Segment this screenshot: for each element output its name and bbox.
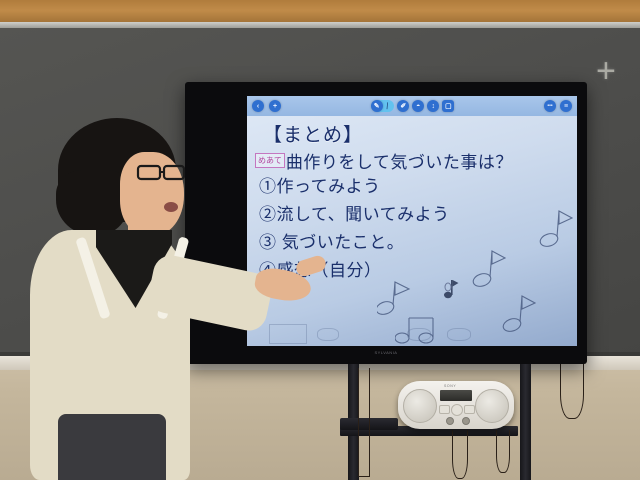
slide-bottom-strip	[247, 320, 577, 346]
trousers	[58, 414, 166, 480]
boombox-display	[440, 390, 472, 401]
boombox-play-button[interactable]	[451, 404, 463, 416]
objective-text: 曲作りをして気づいた事は？	[286, 148, 513, 173]
boombox-mic-jack[interactable]	[462, 417, 470, 425]
chalk-plus-mark: +	[596, 54, 616, 88]
pen-tool[interactable]: ✐	[397, 100, 409, 112]
hair-side	[56, 170, 128, 236]
eighth-note-doodle	[539, 206, 573, 252]
settings-button[interactable]: ≡	[560, 100, 572, 112]
more-options-button[interactable]: •••	[544, 100, 556, 112]
stand-cable	[358, 368, 370, 477]
whiteboard-app-toolbar[interactable]: ‹ + ✎ \ ✐ ◓ ↕ ▢ ••• ≡	[247, 96, 577, 116]
display-screen[interactable]: ‹ + ✎ \ ✐ ◓ ↕ ▢ ••• ≡	[247, 96, 577, 346]
list-item: ②流して、聞いてみよう	[259, 200, 450, 225]
solid-note-icon	[443, 278, 459, 300]
add-button[interactable]: +	[269, 100, 281, 112]
boombox-brand-label: SONY	[444, 384, 456, 388]
power-cable	[452, 430, 468, 479]
objective-tag: めあて	[255, 153, 285, 168]
highlighter-tool[interactable]: ✎	[371, 100, 383, 112]
list-item: ①作ってみよう	[259, 172, 381, 197]
boombox-stop-button[interactable]	[464, 405, 475, 414]
tv-brand-plate: SYLVANIA	[375, 350, 398, 355]
shape-tool[interactable]: ▢	[442, 100, 454, 112]
boombox-speaker-right	[475, 389, 509, 423]
pointer-tool[interactable]: ↕	[427, 100, 439, 112]
slide-title: 【まとめ】	[263, 120, 363, 147]
glasses-icon	[136, 162, 192, 182]
boombox-speaker-left	[403, 389, 437, 423]
hanging-cable	[560, 358, 584, 419]
cd-boombox[interactable]: SONY	[398, 381, 514, 429]
classroom-photo: + SYLVANIA ‹ + ✎ \ ✐ ◓ ↕	[0, 0, 640, 480]
eraser-tool[interactable]: ◓	[412, 100, 424, 112]
slide-objective-row: めあて 曲作りをして気づいた事は？	[255, 148, 513, 173]
back-button[interactable]: ‹	[252, 100, 264, 112]
student-presenter	[0, 118, 250, 480]
boombox-headphone-jack[interactable]	[446, 417, 454, 425]
stand-leg-right	[520, 364, 531, 480]
list-item: ③ 気づいたこと。	[259, 228, 404, 253]
stroke-preview-icon: \	[381, 100, 392, 112]
slide-content: 【まとめ】 めあて 曲作りをして気づいた事は？ ①作ってみよう ②流して、聞いて…	[247, 116, 577, 346]
highlighter-tool-group[interactable]: ✎ \	[371, 100, 395, 112]
mouth	[164, 202, 178, 212]
speaker-cable	[496, 430, 510, 473]
boombox-mode-button[interactable]	[439, 405, 450, 414]
eighth-note-doodle	[472, 246, 506, 292]
